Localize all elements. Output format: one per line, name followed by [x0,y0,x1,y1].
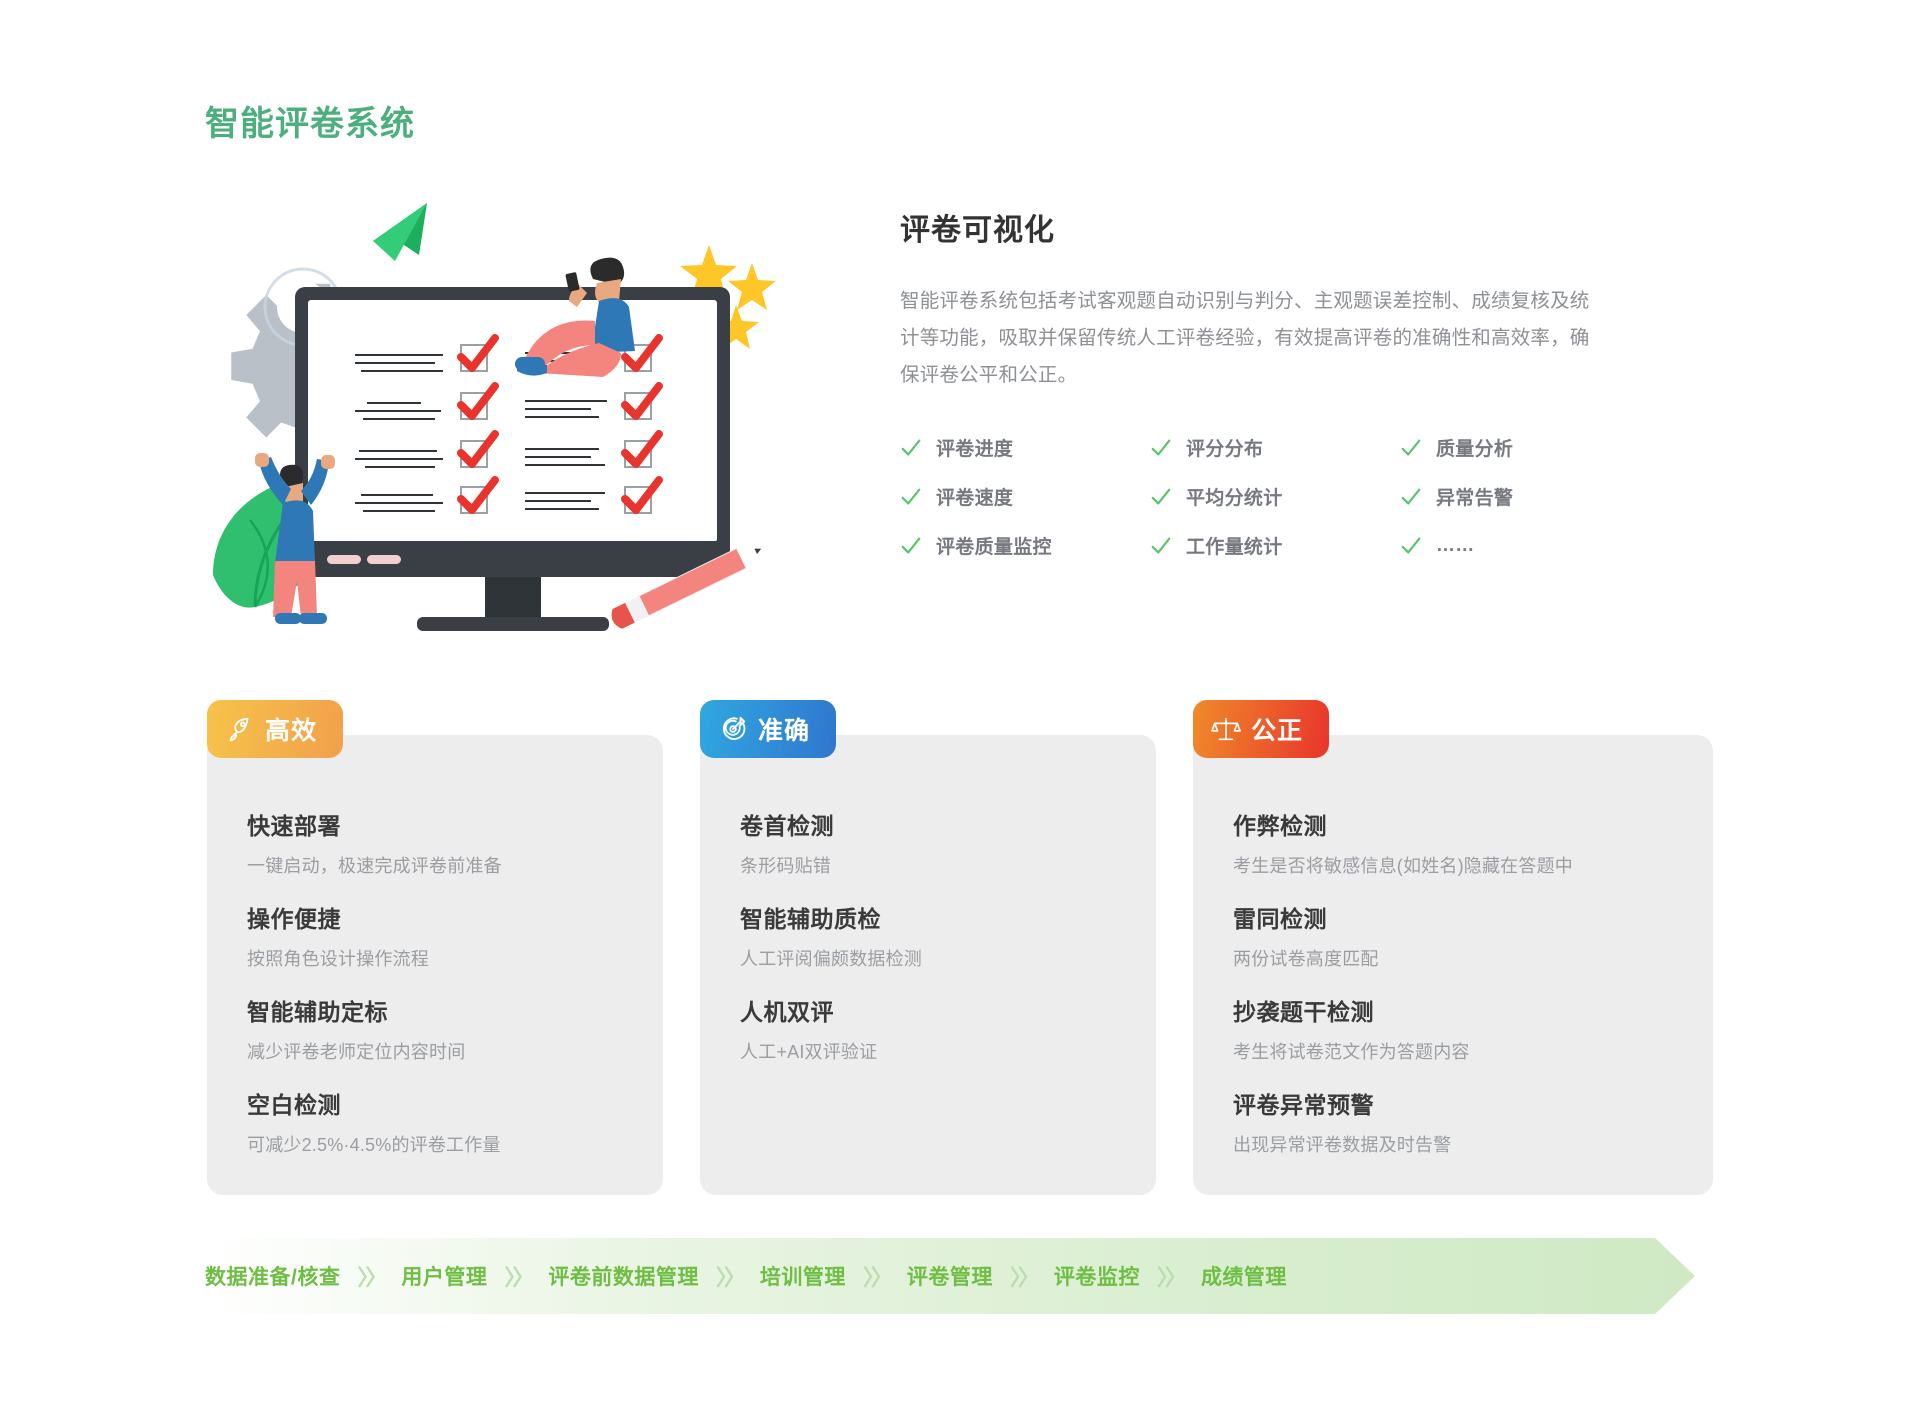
page-title: 智能评卷系统 [205,96,415,145]
feature-label: …… [1436,535,1475,557]
check-icon [900,437,922,459]
process-flow-bar: 数据准备/核查 〉〉 用户管理 〉〉 评卷前数据管理 〉〉 培训管理 〉〉 评卷… [205,1238,1695,1314]
chevron-right-icon: 〉〉 [504,1260,531,1292]
item-title: 人机双评 [740,993,1130,1027]
chevron-right-icon: 〉〉 [716,1260,743,1292]
card-efficiency: 快速部署 一键启动，极速完成评卷前准备 操作便捷 按照角色设计操作流程 智能辅助… [207,735,663,1195]
item-title: 操作便捷 [247,900,637,934]
section-title: 评卷可视化 [900,205,1620,249]
flow-step[interactable]: 数据准备/核查 [205,1261,340,1291]
item-desc: 条形码贴错 [740,852,1130,878]
hero-text-column: 评卷可视化 智能评卷系统包括考试客观题自动识别与判分、主观题误差控制、成绩复核及… [900,205,1620,559]
card-item: 人机双评 人工+AI双评验证 [740,993,1130,1064]
scales-icon [1211,714,1241,744]
card-item: 卷首检测 条形码贴错 [740,807,1130,878]
chevron-right-icon: 〉〉 [1010,1260,1037,1292]
check-icon [900,486,922,508]
item-desc: 考生是否将敏感信息(如姓名)隐藏在答题中 [1233,852,1687,878]
item-desc: 两份试卷高度匹配 [1233,945,1687,971]
item-title: 空白检测 [247,1086,637,1120]
card-body: 快速部署 一键启动，极速完成评卷前准备 操作便捷 按照角色设计操作流程 智能辅助… [247,807,637,1157]
card-fairness: 作弊检测 考生是否将敏感信息(如姓名)隐藏在答题中 雷同检测 两份试卷高度匹配 … [1193,735,1713,1195]
check-icon [1400,486,1422,508]
flow-step[interactable]: 成绩管理 [1201,1261,1287,1291]
check-icon [900,535,922,557]
feature-label: 工作量统计 [1186,532,1283,559]
feature-item: 质量分析 [1400,434,1600,461]
page-root: 智能评卷系统 [0,0,1920,1425]
feature-label: 平均分统计 [1186,483,1283,510]
badge-label: 准确 [758,711,810,747]
badge-fairness[interactable]: 公正 [1193,700,1329,758]
chevron-right-icon: 〉〉 [1157,1260,1184,1292]
flow-step[interactable]: 评卷前数据管理 [548,1261,699,1291]
item-title: 快速部署 [247,807,637,841]
card-accuracy: 卷首检测 条形码贴错 智能辅助质检 人工评阅偏颇数据检测 人机双评 人工+AI双… [700,735,1156,1195]
card-item: 快速部署 一键启动，极速完成评卷前准备 [247,807,637,878]
feature-label: 评卷速度 [936,483,1013,510]
card-item: 作弊检测 考生是否将敏感信息(如姓名)隐藏在答题中 [1233,807,1687,878]
check-icon [1150,437,1172,459]
monitor-illustration [295,287,730,631]
feature-label: 评卷进度 [936,434,1013,461]
feature-item: 评分分布 [1150,434,1400,461]
item-title: 评卷异常预警 [1233,1086,1687,1120]
feature-item: 评卷速度 [900,483,1150,510]
badge-label: 公正 [1251,711,1303,747]
item-desc: 人工+AI双评验证 [740,1038,1130,1064]
feature-label: 异常告警 [1436,483,1513,510]
item-title: 雷同检测 [1233,900,1687,934]
item-title: 智能辅助质检 [740,900,1130,934]
target-icon [718,714,748,744]
feature-item: 平均分统计 [1150,483,1400,510]
item-desc: 可减少2.5%·4.5%的评卷工作量 [247,1131,637,1157]
flow-step[interactable]: 用户管理 [401,1261,487,1291]
chevron-right-icon: 〉〉 [357,1260,384,1292]
check-icon [1400,437,1422,459]
card-item: 空白检测 可减少2.5%·4.5%的评卷工作量 [247,1086,637,1157]
badge-efficiency[interactable]: 高效 [207,700,343,758]
item-title: 智能辅助定标 [247,993,637,1027]
feature-item: 评卷进度 [900,434,1150,461]
badge-accuracy[interactable]: 准确 [700,700,836,758]
check-icon [1400,535,1422,557]
flow-step[interactable]: 评卷监控 [1054,1261,1140,1291]
item-desc: 考生将试卷范文作为答题内容 [1233,1038,1687,1064]
card-item: 智能辅助质检 人工评阅偏颇数据检测 [740,900,1130,971]
paper-plane-icon [373,203,427,261]
feature-item: …… [1400,532,1600,559]
card-body: 作弊检测 考生是否将敏感信息(如姓名)隐藏在答题中 雷同检测 两份试卷高度匹配 … [1233,807,1687,1157]
feature-item: 工作量统计 [1150,532,1400,559]
item-desc: 按照角色设计操作流程 [247,945,637,971]
chevron-right-icon: 〉〉 [863,1260,890,1292]
feature-item: 评卷质量监控 [900,532,1150,559]
item-desc: 出现异常评卷数据及时告警 [1233,1131,1687,1157]
flow-step[interactable]: 评卷管理 [907,1261,993,1291]
item-desc: 人工评阅偏颇数据检测 [740,945,1130,971]
item-title: 作弊检测 [1233,807,1687,841]
feature-label: 质量分析 [1436,434,1513,461]
feature-label: 评分分布 [1186,434,1263,461]
card-body: 卷首检测 条形码贴错 智能辅助质检 人工评阅偏颇数据检测 人机双评 人工+AI双… [740,807,1130,1064]
feature-cards: 快速部署 一键启动，极速完成评卷前准备 操作便捷 按照角色设计操作流程 智能辅助… [0,700,1920,1200]
check-icon [1150,486,1172,508]
card-item: 智能辅助定标 减少评卷老师定位内容时间 [247,993,637,1064]
feature-item: 异常告警 [1400,483,1600,510]
card-item: 评卷异常预警 出现异常评卷数据及时告警 [1233,1086,1687,1157]
item-title: 抄袭题干检测 [1233,993,1687,1027]
item-title: 卷首检测 [740,807,1130,841]
badge-label: 高效 [265,711,317,747]
flow-step[interactable]: 培训管理 [760,1261,846,1291]
item-desc: 减少评卷老师定位内容时间 [247,1038,637,1064]
hero-section: 评卷可视化 智能评卷系统包括考试客观题自动识别与判分、主观题误差控制、成绩复核及… [0,175,1920,595]
card-item: 抄袭题干检测 考生将试卷范文作为答题内容 [1233,993,1687,1064]
hero-illustration [195,175,795,635]
card-item: 操作便捷 按照角色设计操作流程 [247,900,637,971]
feature-list: 评卷进度 评分分布 质量分析 评卷速度 平均分统计 [900,434,1620,559]
feature-label: 评卷质量监控 [936,532,1052,559]
check-icon [1150,535,1172,557]
item-desc: 一键启动，极速完成评卷前准备 [247,852,637,878]
card-item: 雷同检测 两份试卷高度匹配 [1233,900,1687,971]
rocket-icon [225,714,255,744]
section-body: 智能评卷系统包括考试客观题自动识别与判分、主观题误差控制、成绩复核及统计等功能，… [900,283,1600,394]
